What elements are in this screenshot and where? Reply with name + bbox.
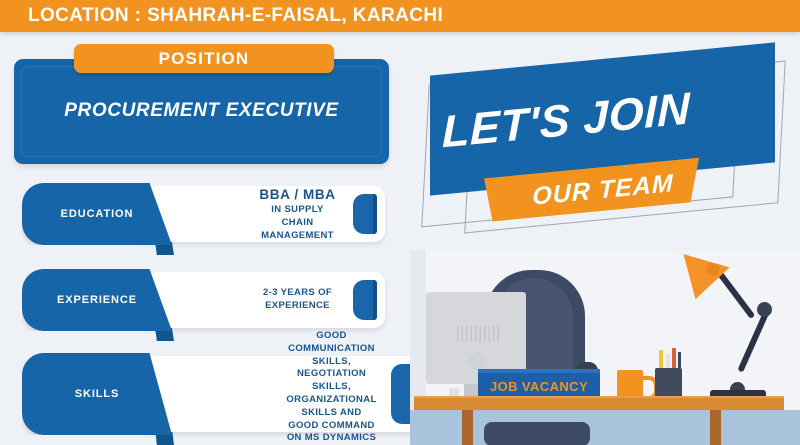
desk-lamp-elbow-joint <box>757 302 772 317</box>
location-text: LOCATION : SHAHRAH-E-FAISAL, KARACHI <box>28 0 443 32</box>
desk-leg-right <box>710 410 721 445</box>
education-card-accent <box>353 194 375 234</box>
lets-join-banner: LET'S JOIN OUR TEAM <box>420 52 800 242</box>
position-title: PROCUREMENT EXECUTIVE <box>14 100 389 122</box>
education-value-text: BBA / MBA IN SUPPLY CHAIN MANAGEMENT <box>256 186 339 242</box>
job-vacancy-poster: LOCATION : SHAHRAH-E-FAISAL, KARACHI POS… <box>0 0 800 445</box>
education-label: EDUCATION <box>61 208 134 220</box>
desk-leg-left <box>462 410 473 445</box>
experience-value-card: 2-3 YEARS OF EXPERIENCE <box>136 272 385 328</box>
education-value-card: BBA / MBA IN SUPPLY CHAIN MANAGEMENT <box>136 186 385 242</box>
experience-label-tab: EXPERIENCE <box>22 269 172 331</box>
position-tab: POSITION <box>74 44 334 73</box>
skills-label: SKILLS <box>75 388 120 400</box>
wall-corner <box>410 250 426 410</box>
position-tab-label: POSITION <box>159 49 250 69</box>
desk-surface <box>414 398 784 410</box>
experience-value-text: 2-3 YEARS OF EXPERIENCE <box>256 272 339 328</box>
education-value-secondary: IN SUPPLY CHAIN MANAGEMENT <box>261 204 334 241</box>
experience-label: EXPERIENCE <box>57 294 137 306</box>
office-chair-seat <box>484 422 590 445</box>
skills-value-text: GOOD COMMUNICATION SKILLS, NEGOTIATION S… <box>286 356 377 432</box>
experience-value-secondary: 2-3 YEARS OF EXPERIENCE <box>263 287 332 311</box>
education-value-primary: BBA / MBA <box>256 186 339 204</box>
location-bar: LOCATION : SHAHRAH-E-FAISAL, KARACHI <box>0 0 800 32</box>
skills-value-card: GOOD COMMUNICATION SKILLS, NEGOTIATION S… <box>136 356 423 432</box>
skills-label-tab: SKILLS <box>22 353 172 435</box>
experience-card-accent <box>353 280 375 320</box>
pen-holder <box>655 368 682 399</box>
skills-value-secondary: GOOD COMMUNICATION SKILLS, NEGOTIATION S… <box>286 330 376 445</box>
monitor-screen-lines <box>457 326 499 342</box>
education-label-tab: EDUCATION <box>22 183 172 245</box>
office-desk-illustration: JOB VACANCY <box>410 250 800 445</box>
